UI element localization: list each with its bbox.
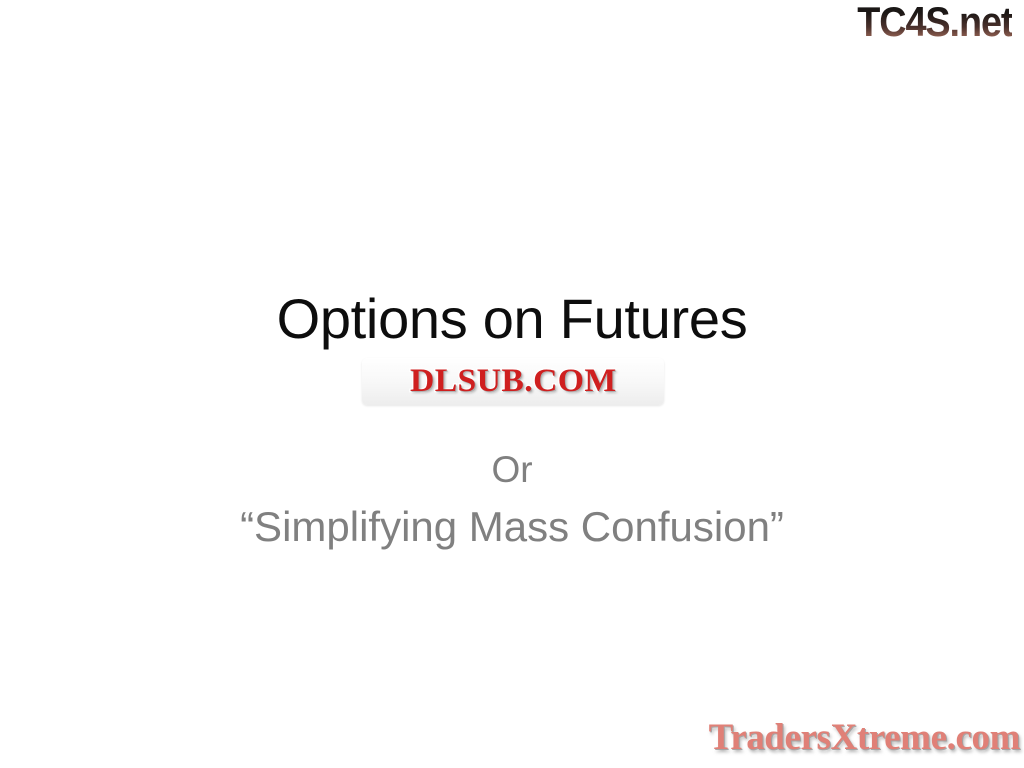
watermark-dlsub: DLSUB.COM: [410, 365, 617, 398]
page-title: Options on Futures: [277, 288, 748, 350]
title-placeholder: Options on Futures: [0, 288, 1024, 350]
watermark-tradersxtreme: TradersXtreme.com: [709, 718, 1020, 758]
subtitle-line-2: “Simplifying Mass Confusion”: [0, 496, 1024, 558]
presentation-slide: TC4S.net Options on Futures DLSUB.COM Or…: [0, 0, 1024, 768]
watermark-tradersxtreme-label: TradersXtreme.com: [709, 717, 1020, 758]
watermark-tc4s: TC4S.net: [857, 1, 1012, 43]
subtitle-line-1: Or: [0, 444, 1024, 496]
subtitle-placeholder: Or “Simplifying Mass Confusion”: [0, 444, 1024, 558]
watermark-dlsub-panel: DLSUB.COM: [362, 358, 664, 405]
